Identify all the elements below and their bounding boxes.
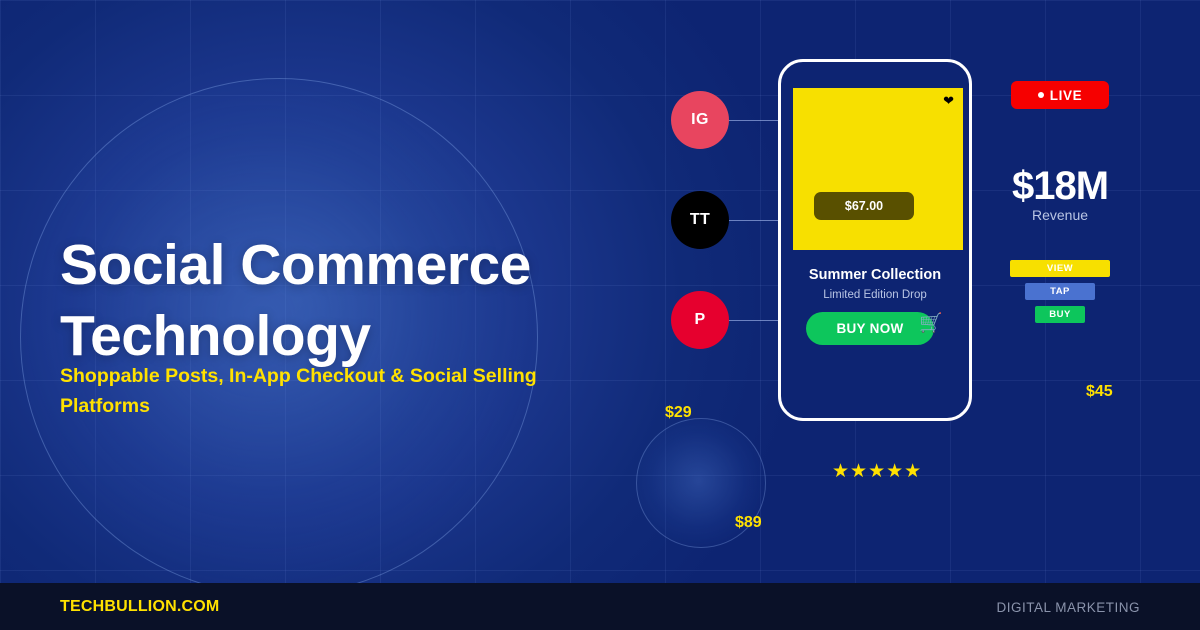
social-node-label: IG: [691, 111, 709, 129]
funnel-bar-buy[interactable]: BUY: [1035, 306, 1085, 323]
phone-mockup: ❤ $67.00 Summer Collection Limited Editi…: [778, 59, 972, 421]
heart-icon[interactable]: ❤: [943, 94, 954, 107]
revenue-label: Revenue: [1000, 207, 1120, 223]
conversion-funnel: VIEWTAPBUY: [1000, 260, 1120, 323]
floating-price-label: $45: [1086, 383, 1113, 401]
rating-stars: ★★★★★: [832, 462, 922, 481]
infographic-canvas: Social Commerce Technology Shoppable Pos…: [0, 0, 1200, 630]
product-title: Summer Collection: [781, 267, 969, 283]
shopping-cart-icon: 🛒: [919, 314, 943, 333]
social-node-label: TT: [690, 211, 710, 229]
connector-line: [729, 220, 778, 221]
live-dot-icon: [1038, 92, 1044, 98]
social-node-ig[interactable]: IG: [671, 91, 729, 149]
buy-now-button[interactable]: BUY NOW: [806, 312, 934, 345]
page-subtitle: Shoppable Posts, In-App Checkout & Socia…: [60, 361, 620, 422]
connector-line: [729, 320, 778, 321]
live-badge-label: LIVE: [1050, 88, 1082, 103]
footer-tagline: DIGITAL MARKETING: [996, 600, 1140, 615]
page-title: Social Commerce Technology: [60, 230, 620, 371]
live-badge: LIVE: [1011, 81, 1109, 109]
social-node-p[interactable]: P: [671, 291, 729, 349]
funnel-bar-view[interactable]: VIEW: [1010, 260, 1110, 277]
social-node-tt[interactable]: TT: [671, 191, 729, 249]
product-subtitle: Limited Edition Drop: [781, 289, 969, 301]
price-tag: $67.00: [814, 192, 914, 220]
floating-price-label: $29: [665, 404, 692, 422]
connector-line: [729, 120, 778, 121]
funnel-bar-tap[interactable]: TAP: [1025, 283, 1095, 300]
footer-brand[interactable]: TECHBULLION.COM: [60, 598, 219, 616]
floating-price-label: $89: [735, 514, 762, 532]
footer-bar: TECHBULLION.COM DIGITAL MARKETING: [0, 583, 1200, 630]
revenue-value: $18M: [1000, 164, 1120, 209]
product-image: ❤ $67.00: [793, 88, 963, 250]
social-node-label: P: [694, 311, 705, 329]
